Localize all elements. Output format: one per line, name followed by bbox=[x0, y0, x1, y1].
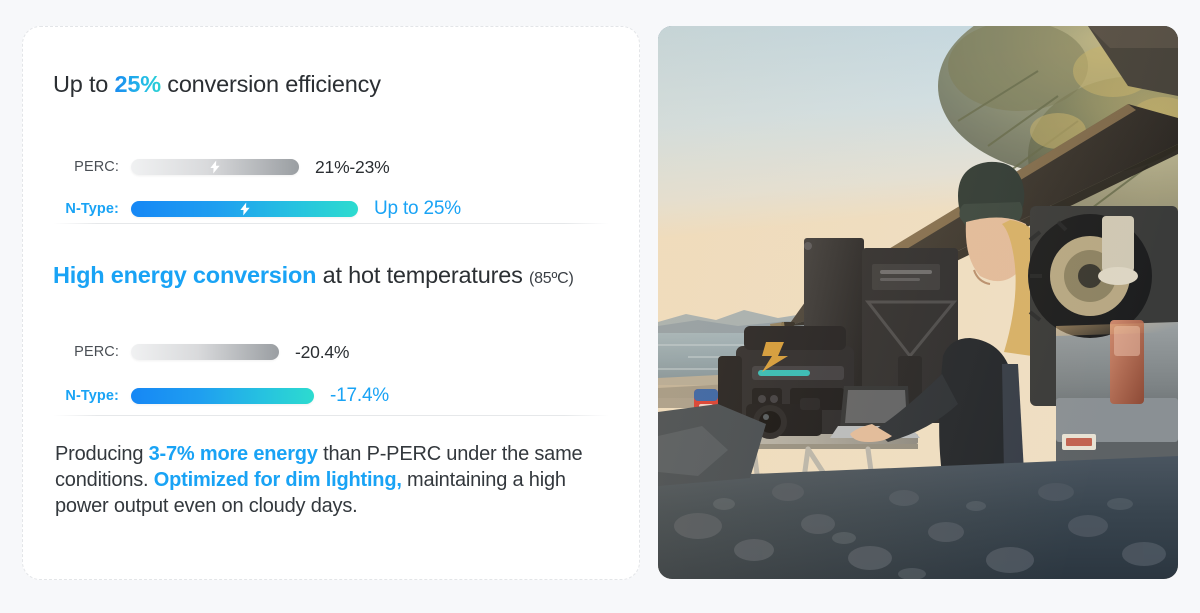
lifestyle-photo bbox=[658, 26, 1178, 579]
row-label-ntype: N-Type: bbox=[23, 388, 131, 404]
row-value-perc-hot: -20.4% bbox=[295, 342, 349, 363]
summary-paragraph: Producing 3-7% more energy than P-PERC u… bbox=[55, 441, 613, 519]
section1-heading-post: conversion efficiency bbox=[161, 71, 381, 97]
row-perc-efficiency: PERC: 21%-23% bbox=[23, 156, 639, 178]
lightning-bolt-icon bbox=[239, 203, 250, 216]
section1-heading: Up to 25% conversion efficiency bbox=[23, 71, 639, 98]
section1-heading-accent: 25% bbox=[115, 71, 161, 97]
progress-bar-ntype-hot bbox=[131, 388, 314, 404]
photo-illustration bbox=[658, 26, 1178, 579]
section1-heading-pre: Up to bbox=[53, 71, 115, 97]
row-ntype-hot: N-Type: -17.4% bbox=[23, 385, 639, 407]
row-label-perc: PERC: bbox=[23, 159, 131, 175]
section2-heading-post: at hot temperatures bbox=[316, 262, 529, 288]
section2-heading: High energy conversion at hot temperatur… bbox=[23, 262, 639, 289]
row-label-ntype: N-Type: bbox=[23, 201, 131, 217]
page-root: Up to 25% conversion efficiency PERC: 21… bbox=[0, 0, 1200, 613]
lightning-bolt-icon bbox=[210, 161, 221, 174]
row-perc-hot: PERC: -20.4% bbox=[23, 341, 639, 363]
section2-heading-accent: High energy conversion bbox=[53, 262, 316, 288]
section-conversion-efficiency: Up to 25% conversion efficiency bbox=[23, 71, 639, 98]
progress-bar-perc-hot bbox=[131, 344, 279, 360]
row-value-perc-efficiency: 21%-23% bbox=[315, 157, 389, 178]
row-ntype-efficiency: N-Type: Up to 25% bbox=[23, 198, 639, 220]
row-label-perc: PERC: bbox=[23, 344, 131, 360]
divider-bottom bbox=[53, 415, 609, 416]
divider-top bbox=[53, 223, 609, 224]
section-hot-temperature: High energy conversion at hot temperatur… bbox=[23, 262, 639, 289]
section2-heading-sup: (85ºC) bbox=[529, 270, 574, 287]
row-value-ntype-hot: -17.4% bbox=[330, 385, 389, 407]
progress-bar-ntype-efficiency bbox=[131, 201, 358, 217]
summary-highlight-energy: 3-7% more energy bbox=[149, 443, 318, 465]
summary-highlight-dim-lighting: Optimized for dim lighting, bbox=[154, 469, 402, 491]
progress-bar-perc-efficiency bbox=[131, 159, 299, 175]
row-value-ntype-efficiency: Up to 25% bbox=[374, 198, 461, 220]
summary-part-1: Producing bbox=[55, 443, 149, 465]
spec-card: Up to 25% conversion efficiency PERC: 21… bbox=[22, 26, 640, 580]
